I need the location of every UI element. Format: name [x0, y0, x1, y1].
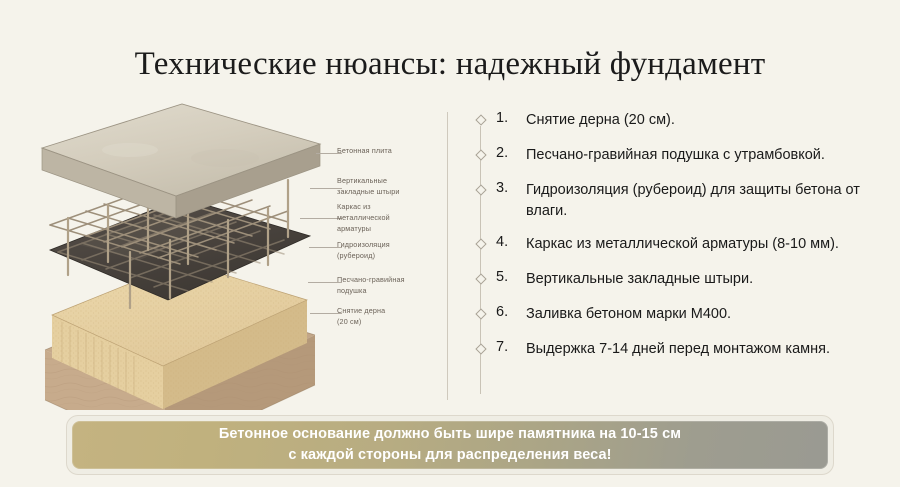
- list-item[interactable]: 6. Заливка бетоном марки M400.: [472, 304, 872, 326]
- step-number: 7.: [496, 339, 526, 355]
- step-number: 1.: [496, 110, 526, 126]
- list-item[interactable]: 7. Выдержка 7-14 дней перед монтажом кам…: [472, 339, 872, 361]
- diagram-label-turf-removal: Снятие дерна (20 см): [337, 306, 432, 328]
- steps-list: 1. Снятие дерна (20 см). 2. Песчано-грав…: [472, 110, 872, 374]
- step-number: 3.: [496, 180, 526, 196]
- step-text: Каркас из металлической арматуры (8-10 м…: [526, 234, 839, 255]
- diagram-label-line: (рубероид): [337, 251, 432, 262]
- banner-line-1: Бетонное основание должно быть шире памя…: [219, 424, 681, 445]
- diagram-label-line: закладные штыри: [337, 187, 432, 198]
- diagram-label-rebar-cage: Каркас из металлической арматуры: [337, 202, 432, 234]
- step-text: Песчано-гравийная подушка с утрамбовкой.: [526, 145, 825, 166]
- step-text: Снятие дерна (20 см).: [526, 110, 675, 131]
- diagram-label-line: арматуры: [337, 224, 432, 235]
- diagram-label-line: Бетонная плита: [337, 146, 432, 157]
- diagram-label-sand-gravel-cushion: Песчано-гравийная подушка: [337, 275, 432, 297]
- layer-concrete-slab: [42, 104, 320, 218]
- diagram-label-line: Вертикальные: [337, 176, 432, 187]
- diamond-marker-icon: [474, 272, 487, 285]
- step-number: 6.: [496, 304, 526, 320]
- diamond-marker-icon: [474, 148, 487, 161]
- banner-line-2: с каждой стороны для распределения веса!: [288, 445, 611, 466]
- highlight-banner-frame: Бетонное основание должно быть шире памя…: [66, 415, 834, 475]
- diagram-label-line: Каркас из: [337, 202, 432, 213]
- list-item[interactable]: 3. Гидроизоляция (рубероид) для защиты б…: [472, 180, 872, 221]
- step-number: 5.: [496, 269, 526, 285]
- list-item[interactable]: 1. Снятие дерна (20 см).: [472, 110, 872, 132]
- step-text: Выдержка 7-14 дней перед монтажом камня.: [526, 339, 830, 360]
- diagram-label-line: Снятие дерна: [337, 306, 432, 317]
- list-item[interactable]: 4. Каркас из металлической арматуры (8-1…: [472, 234, 872, 256]
- diagram-label-vertical-pins: Вертикальные закладные штыри: [337, 176, 432, 198]
- step-text: Гидроизоляция (рубероид) для защиты бето…: [526, 180, 871, 221]
- column-divider: [447, 112, 448, 400]
- list-item[interactable]: 2. Песчано-гравийная подушка с утрамбовк…: [472, 145, 872, 167]
- step-text: Заливка бетоном марки M400.: [526, 304, 731, 325]
- diamond-marker-icon: [474, 113, 487, 126]
- list-item[interactable]: 5. Вертикальные закладные штыри.: [472, 269, 872, 291]
- highlight-banner: Бетонное основание должно быть шире памя…: [72, 421, 828, 469]
- diagram-label-line: металлической: [337, 213, 432, 224]
- diagram-label-waterproofing: Гидроизоляция (рубероид): [337, 240, 432, 262]
- diagram-label-line: подушка: [337, 286, 432, 297]
- step-number: 2.: [496, 145, 526, 161]
- diamond-marker-icon: [474, 237, 487, 250]
- page-title: Технические нюансы: надежный фундамент: [0, 46, 900, 83]
- diagram-label-line: (20 см): [337, 317, 432, 328]
- diamond-marker-icon: [474, 307, 487, 320]
- diamond-marker-icon: [474, 183, 487, 196]
- step-number: 4.: [496, 234, 526, 250]
- diagram-label-line: Гидроизоляция: [337, 240, 432, 251]
- leader-line-rebar-cage: [300, 218, 342, 219]
- diagram-label-concrete-slab: Бетонная плита: [337, 146, 432, 157]
- diamond-marker-icon: [474, 342, 487, 355]
- diagram-label-line: Песчано-гравийная: [337, 275, 432, 286]
- step-text: Вертикальные закладные штыри.: [526, 269, 753, 290]
